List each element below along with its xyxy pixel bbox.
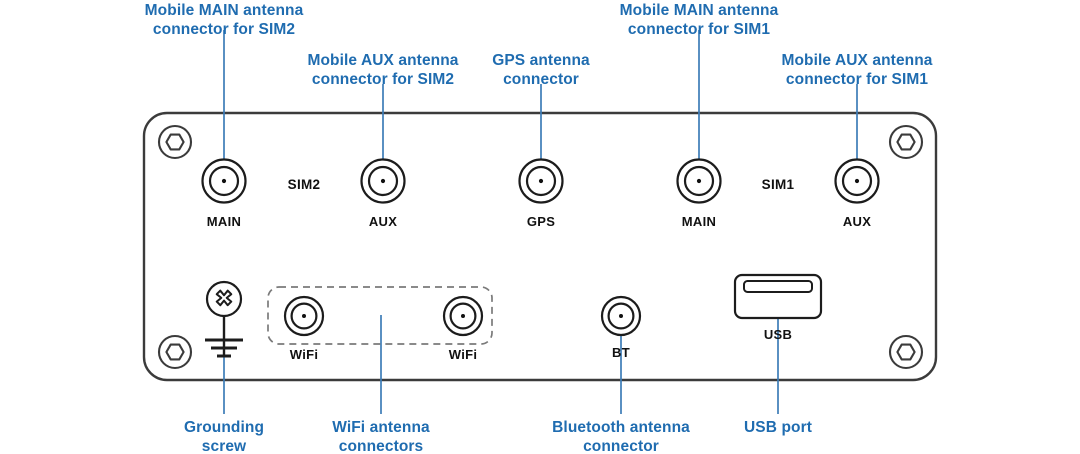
callout-bluetooth: Bluetooth antenna connector <box>521 419 721 454</box>
callout-main-sim2: Mobile MAIN antenna connector for SIM2 <box>124 2 324 39</box>
port-label-aux-sim2: AUX <box>343 214 423 229</box>
callout-grounding-screw: Grounding screw <box>149 419 299 454</box>
callout-aux-sim2: Mobile AUX antenna connector for SIM2 <box>283 52 483 89</box>
port-label-main-sim2: MAIN <box>184 214 264 229</box>
hex-screw-icon <box>890 126 922 158</box>
callout-gps: GPS antenna connector <box>466 52 616 89</box>
port-label-gps: GPS <box>501 214 581 229</box>
port-label-bt: BT <box>581 345 661 360</box>
group-label-sim1: SIM1 <box>738 177 818 192</box>
port-label-wifi-left: WiFi <box>264 347 344 362</box>
coax-connector-icon[interactable] <box>836 160 879 203</box>
coax-connector-icon[interactable] <box>520 160 563 203</box>
group-label-sim2: SIM2 <box>264 177 344 192</box>
port-label-usb: USB <box>738 327 818 342</box>
coax-connector-icon[interactable] <box>602 297 640 335</box>
coax-connector-icon[interactable] <box>362 160 405 203</box>
callout-main-sim1: Mobile MAIN antenna connector for SIM1 <box>599 2 799 39</box>
coax-connector-icon[interactable] <box>678 160 721 203</box>
callout-wifi: WiFi antenna connectors <box>306 419 456 454</box>
callout-aux-sim1: Mobile AUX antenna connector for SIM1 <box>757 52 957 89</box>
usb-port-icon[interactable] <box>735 275 821 318</box>
callout-usb: USB port <box>703 419 853 438</box>
port-label-aux-sim1: AUX <box>817 214 897 229</box>
device-panel-diagram: Mobile MAIN antenna connector for SIM2 M… <box>0 0 1080 454</box>
coax-connector-icon[interactable] <box>285 297 323 335</box>
hex-screw-icon <box>890 336 922 368</box>
port-label-main-sim1: MAIN <box>659 214 739 229</box>
hex-screw-icon <box>159 336 191 368</box>
hex-screw-icon <box>159 126 191 158</box>
coax-connector-icon[interactable] <box>203 160 246 203</box>
port-label-wifi-right: WiFi <box>423 347 503 362</box>
coax-connector-icon[interactable] <box>444 297 482 335</box>
